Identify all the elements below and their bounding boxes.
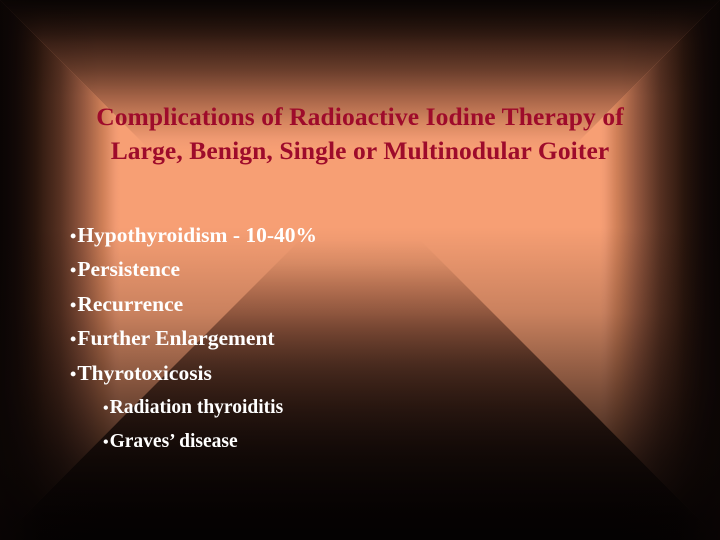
bullet-marker-icon: • [70, 254, 76, 287]
bullet-marker-icon: • [103, 392, 109, 425]
bullet-label: Thyrotoxicosis [77, 357, 212, 390]
bullet-label: Radiation thyroiditis [110, 391, 284, 424]
bullet-item-thyrotoxicosis: • Thyrotoxicosis [70, 357, 670, 391]
bullet-label: Further Enlargement [77, 322, 274, 355]
slide-content: Complications of Radioactive Iodine Ther… [0, 0, 720, 540]
bullet-item-further-enlargement: • Further Enlargement [70, 322, 670, 356]
bullet-marker-icon: • [70, 358, 76, 391]
bullet-label: Graves’ disease [110, 425, 238, 458]
bullet-label: Recurrence [77, 288, 183, 321]
bullet-item-recurrence: • Recurrence [70, 288, 670, 322]
bullet-marker-icon: • [70, 289, 76, 322]
bullet-marker-icon: • [70, 220, 76, 253]
slide-title-line-1: Complications of Radioactive Iodine Ther… [40, 100, 680, 134]
bullet-label: Hypothyroidism - 10-40% [77, 219, 317, 252]
slide-bullet-list: • Hypothyroidism - 10-40% • Persistence … [70, 219, 670, 460]
bullet-item-hypothyroidism: • Hypothyroidism - 10-40% [70, 219, 670, 253]
bullet-item-graves-disease: • Graves’ disease [103, 425, 670, 459]
presentation-slide: Complications of Radioactive Iodine Ther… [0, 0, 720, 540]
slide-title: Complications of Radioactive Iodine Ther… [40, 100, 680, 168]
bullet-marker-icon: • [70, 323, 76, 356]
bullet-marker-icon: • [103, 426, 109, 459]
bullet-item-radiation-thyroiditis: • Radiation thyroiditis [103, 391, 670, 425]
bullet-label: Persistence [77, 253, 180, 286]
bullet-item-persistence: • Persistence [70, 253, 670, 287]
slide-title-line-2: Large, Benign, Single or Multinodular Go… [40, 134, 680, 168]
